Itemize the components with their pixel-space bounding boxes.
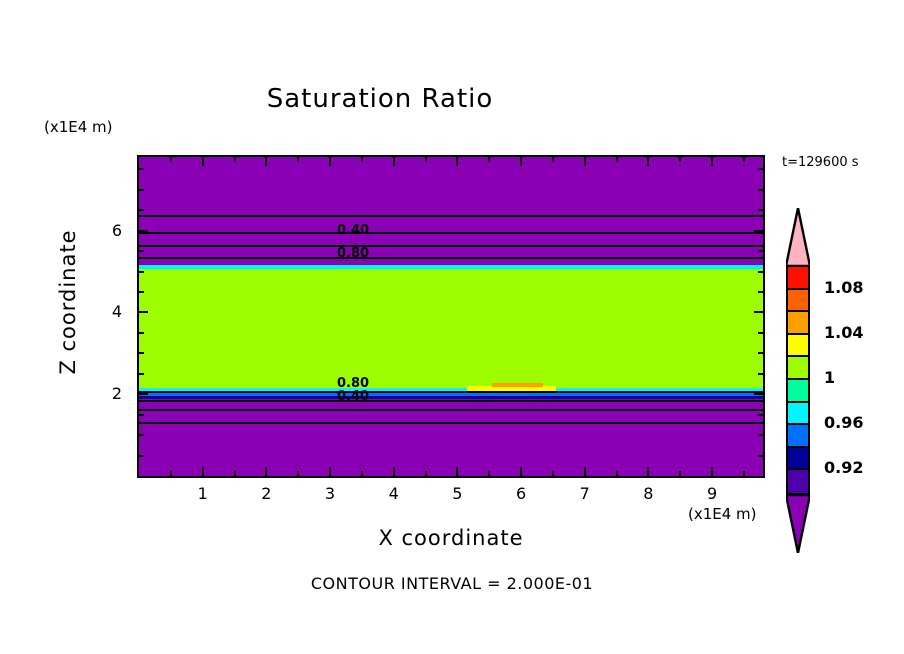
colorbar-band [788, 267, 808, 290]
colorbar-label: 1.04 [824, 323, 863, 342]
x-tick-label: 9 [697, 484, 727, 503]
y-axis-title: Z coordinate [56, 212, 80, 392]
axis-tick [139, 434, 144, 436]
x-tick-label: 6 [506, 484, 536, 503]
time-stamp-label: t=129600 s [782, 155, 859, 170]
x-tick-label: 1 [188, 484, 218, 503]
axis-tick [139, 209, 144, 211]
axis-tick [393, 467, 395, 476]
axis-tick [361, 157, 363, 162]
page-title: Saturation Ratio [0, 84, 760, 114]
x-tick-label: 7 [570, 484, 600, 503]
x-tick-label: 4 [379, 484, 409, 503]
axis-tick [647, 157, 649, 166]
colorbar-label: 0.96 [824, 413, 863, 432]
axis-tick [297, 157, 299, 162]
axis-tick [139, 414, 144, 416]
axis-tick [139, 373, 144, 375]
axis-tick [393, 157, 395, 166]
contour-line [139, 257, 763, 259]
colorbar-band [788, 312, 808, 335]
axis-tick [743, 157, 745, 162]
colorbar-band [788, 470, 808, 493]
contour-interval-caption: CONTOUR INTERVAL = 2.000E-01 [0, 574, 904, 593]
axis-tick [754, 230, 763, 232]
axis-tick [758, 250, 763, 252]
axis-tick [754, 393, 763, 395]
x-tick-label: 5 [442, 484, 472, 503]
axis-tick [139, 250, 144, 252]
axis-tick [758, 189, 763, 191]
axis-tick [758, 291, 763, 293]
colorbar-band [788, 357, 808, 380]
axis-tick [711, 157, 713, 166]
axis-tick [584, 157, 586, 166]
axis-tick [647, 467, 649, 476]
contour-line [139, 245, 763, 247]
figure-root: Saturation Ratio (x1E4 m) t=129600 s Z c… [0, 0, 904, 654]
axis-tick [616, 157, 618, 162]
y-tick-label: 6 [96, 221, 122, 240]
axis-tick [488, 157, 490, 162]
axis-tick [520, 157, 522, 166]
contour-plot-area[interactable]: 0.400.800.800.40 [137, 155, 765, 478]
colorbar-band [788, 425, 808, 448]
colorbar-band [788, 290, 808, 313]
axis-tick [329, 467, 331, 476]
colorbar-bottom-arrow-outline-icon [786, 495, 810, 553]
axis-tick [616, 471, 618, 476]
axis-tick [139, 189, 144, 191]
axis-tick [711, 467, 713, 476]
contour-value-label: 0.40 [337, 389, 369, 404]
axis-tick [265, 467, 267, 476]
axis-tick [170, 157, 172, 162]
axis-tick [361, 471, 363, 476]
axis-tick [425, 471, 427, 476]
x-tick-label: 2 [251, 484, 281, 503]
contour-band [139, 269, 763, 388]
contour-line [139, 232, 763, 234]
colorbar-label: 1 [824, 368, 835, 387]
axis-tick [758, 434, 763, 436]
colorbar-label: 0.92 [824, 458, 863, 477]
axis-tick [139, 168, 144, 170]
contour-line [139, 215, 763, 217]
contour-value-label: 0.80 [337, 246, 369, 261]
axis-tick [758, 455, 763, 457]
colorbar-band [788, 403, 808, 426]
y-axis-unit-label: (x1E4 m) [44, 118, 113, 136]
axis-tick [488, 471, 490, 476]
axis-tick [202, 157, 204, 166]
axis-tick [754, 311, 763, 313]
contour-value-label: 0.40 [337, 223, 369, 238]
axis-tick [170, 471, 172, 476]
axis-tick [758, 209, 763, 211]
axis-tick [329, 157, 331, 166]
colorbar-top-arrow-outline-icon [786, 208, 810, 266]
x-axis-title: X coordinate [137, 526, 765, 550]
x-tick-label: 8 [633, 484, 663, 503]
contour-line [139, 400, 763, 402]
saturation-anomaly [492, 383, 543, 387]
axis-tick [234, 157, 236, 162]
axis-tick [139, 230, 148, 232]
contour-line [139, 391, 763, 393]
colorbar-bands [786, 265, 810, 495]
axis-tick [584, 467, 586, 476]
axis-tick [758, 352, 763, 354]
contour-field [139, 157, 763, 476]
y-tick-label: 2 [96, 384, 122, 403]
axis-tick [758, 271, 763, 273]
axis-tick [758, 332, 763, 334]
axis-tick [520, 467, 522, 476]
contour-band [139, 157, 763, 265]
colorbar-band [788, 335, 808, 358]
colorbar-band [788, 380, 808, 403]
contour-line [139, 409, 763, 411]
colorbar-band [788, 448, 808, 471]
axis-tick [139, 271, 144, 273]
axis-tick [758, 373, 763, 375]
axis-tick [758, 168, 763, 170]
colorbar-label: 1.08 [824, 278, 863, 297]
axis-tick [139, 332, 144, 334]
axis-tick [139, 352, 144, 354]
axis-tick [743, 471, 745, 476]
axis-tick [297, 471, 299, 476]
axis-tick [456, 157, 458, 166]
axis-tick [139, 311, 148, 313]
contour-line [139, 422, 763, 424]
axis-tick [456, 467, 458, 476]
axis-tick [552, 157, 554, 162]
x-tick-label: 3 [315, 484, 345, 503]
axis-tick [758, 414, 763, 416]
axis-tick [202, 467, 204, 476]
axis-tick [425, 157, 427, 162]
axis-tick [234, 471, 236, 476]
axis-tick [265, 157, 267, 166]
y-tick-label: 4 [96, 302, 122, 321]
axis-tick [139, 455, 144, 457]
axis-tick [552, 471, 554, 476]
axis-tick [139, 393, 148, 395]
axis-tick [679, 157, 681, 162]
axis-tick [139, 291, 144, 293]
axis-tick [679, 471, 681, 476]
x-axis-unit-label: (x1E4 m) [688, 505, 757, 523]
